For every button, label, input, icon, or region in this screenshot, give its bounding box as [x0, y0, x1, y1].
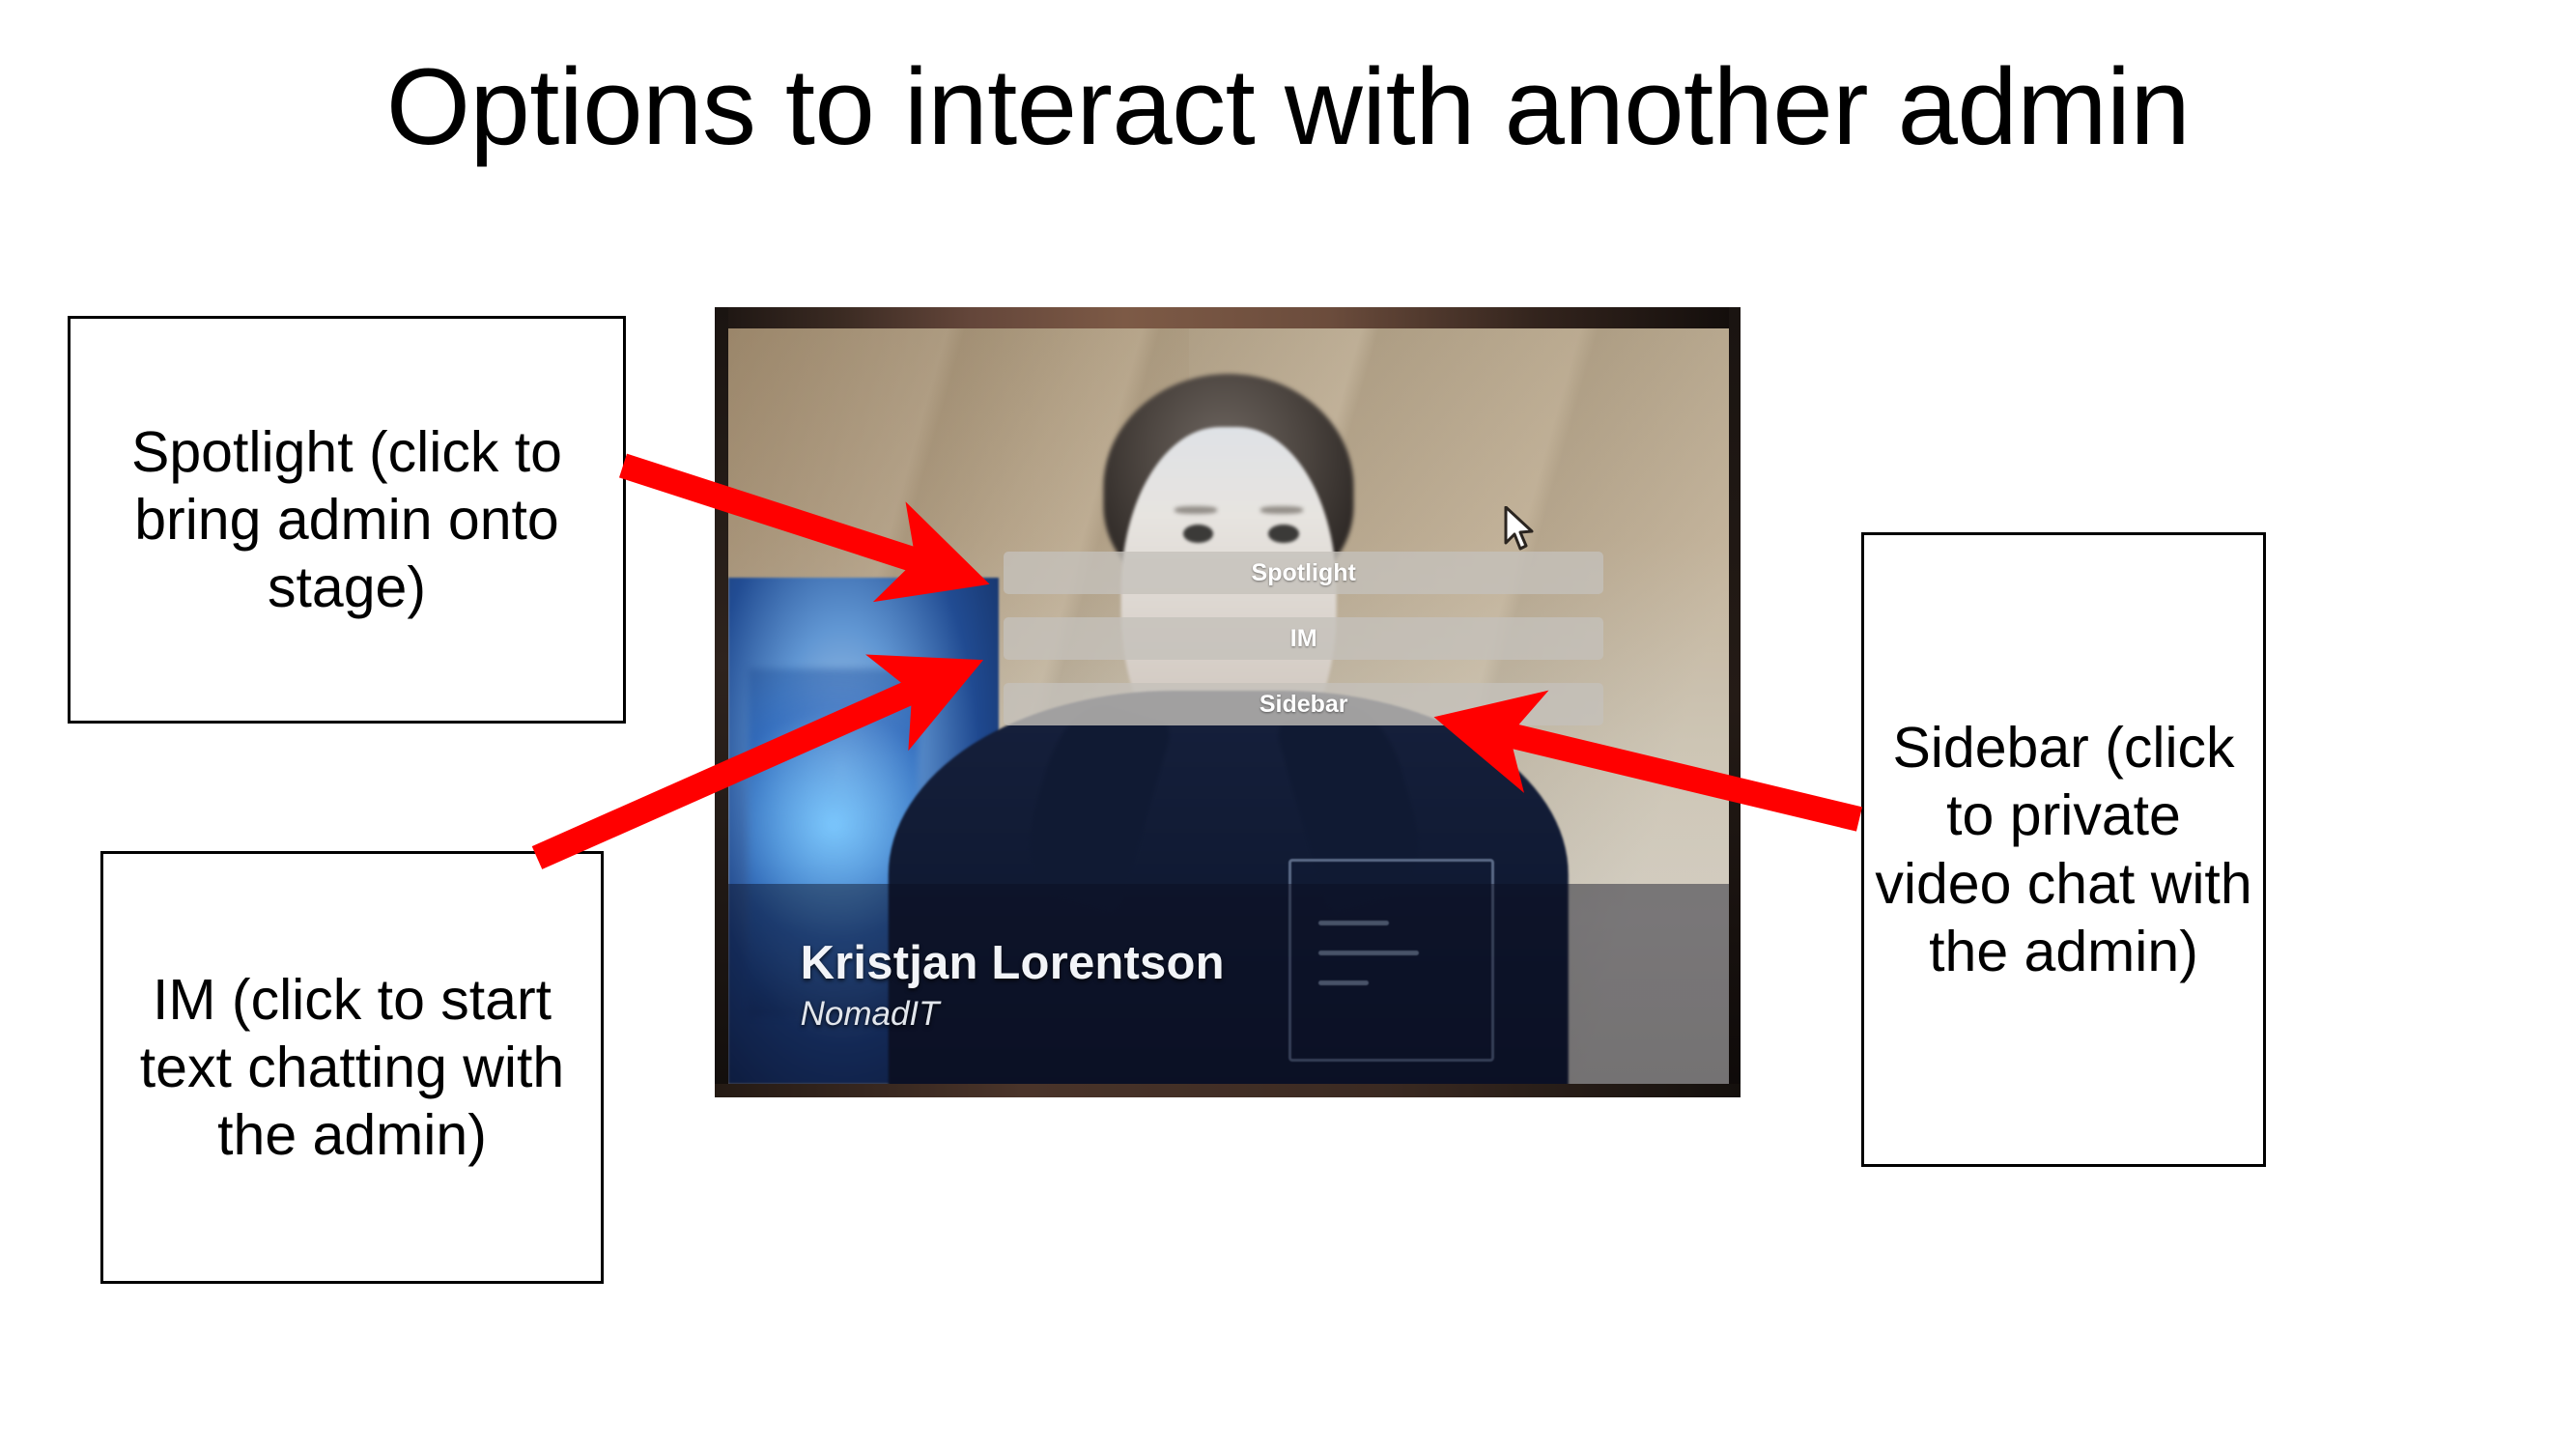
participant-action-menu: Spotlight IM Sidebar [1004, 552, 1604, 725]
callout-box-spotlight: Spotlight (click to bring admin onto sta… [68, 316, 626, 724]
page-title: Options to interact with another admin [0, 50, 2576, 164]
im-menu-button[interactable]: IM [1004, 617, 1604, 660]
video-bezel-top [715, 307, 1741, 328]
callout-sidebar-text: Sidebar (click to private video chat wit… [1864, 714, 2263, 985]
mouse-cursor-icon [1504, 506, 1537, 557]
callout-box-im: IM (click to start text chatting with th… [100, 851, 604, 1284]
callout-box-sidebar: Sidebar (click to private video chat wit… [1861, 532, 2266, 1167]
participant-nameplate: Kristjan Lorentson NomadIT [801, 937, 1225, 1035]
callout-im-text: IM (click to start text chatting with th… [103, 966, 601, 1170]
participant-name: Kristjan Lorentson [801, 937, 1225, 990]
participant-eye-right [1268, 525, 1298, 543]
callout-spotlight-text: Spotlight (click to bring admin onto sta… [71, 418, 623, 622]
webcam-video-feed: Spotlight IM Sidebar Kristjan Lorentson … [728, 328, 1729, 1084]
video-bezel-right [1729, 307, 1741, 1097]
sidebar-menu-button[interactable]: Sidebar [1004, 683, 1604, 725]
video-tile[interactable]: Spotlight IM Sidebar Kristjan Lorentson … [715, 307, 1741, 1097]
spotlight-menu-button[interactable]: Spotlight [1004, 552, 1604, 594]
video-bezel-left [715, 307, 728, 1097]
participant-organization: NomadIT [801, 994, 1225, 1035]
video-bezel-bottom [715, 1084, 1741, 1097]
participant-eyebrow-right [1260, 506, 1303, 514]
participant-eyebrow-left [1175, 506, 1217, 514]
